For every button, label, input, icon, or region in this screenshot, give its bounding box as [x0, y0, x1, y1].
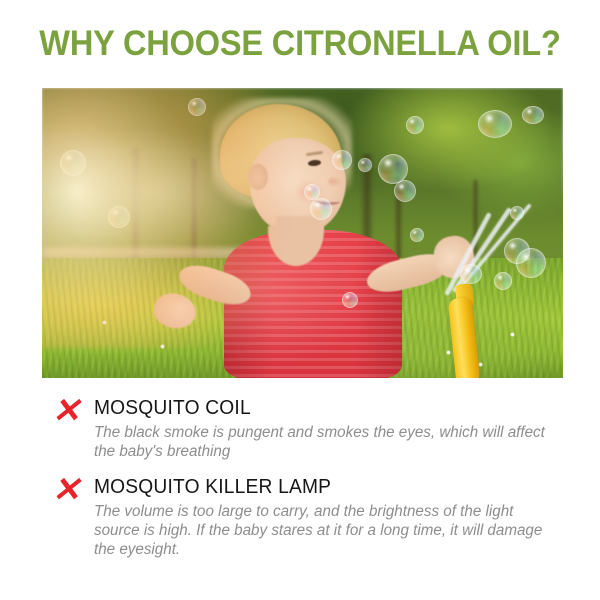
red-x-mark-icon: ✕ [48, 473, 84, 509]
red-x-mark-icon: ✕ [48, 394, 84, 430]
soap-bubble [310, 198, 332, 220]
nose [328, 176, 342, 187]
dandelion [510, 332, 515, 337]
dandelion [446, 350, 451, 355]
soap-bubble [410, 228, 424, 242]
soap-bubble [342, 292, 358, 308]
reason-title: MOSQUITO KILLER LAMP [94, 475, 549, 499]
soap-bubble [478, 110, 512, 138]
soap-bubble [510, 206, 524, 220]
soap-bubble [406, 116, 424, 134]
reason-description: The volume is too large to carry, and th… [94, 502, 559, 559]
hero-image [42, 88, 563, 378]
page-title: WHY CHOOSE CITRONELLA OIL? [21, 24, 579, 64]
soap-bubble [494, 272, 512, 290]
soap-bubble [522, 106, 544, 124]
soap-bubble [358, 158, 372, 172]
reason-title: MOSQUITO COIL [94, 396, 549, 420]
reasons-list: ✕ MOSQUITO COIL The black smoke is punge… [48, 396, 568, 573]
soap-bubble [460, 264, 482, 284]
soap-bubble [394, 180, 416, 202]
soap-bubble [332, 150, 352, 170]
sun-haze [72, 128, 282, 258]
list-item: ✕ MOSQUITO COIL The black smoke is punge… [48, 396, 568, 461]
soap-bubble [516, 248, 546, 278]
reason-description: The black smoke is pungent and smokes th… [94, 423, 559, 461]
list-item: ✕ MOSQUITO KILLER LAMP The volume is too… [48, 475, 568, 559]
